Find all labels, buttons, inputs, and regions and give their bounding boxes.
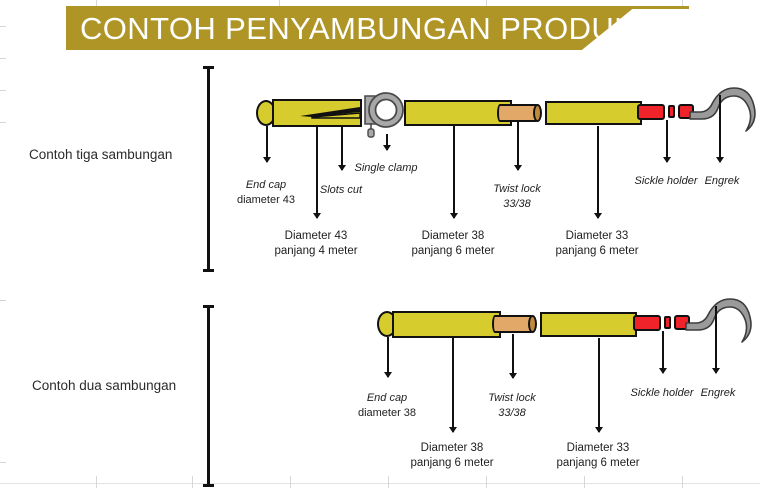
slide-canvas: CONTOH PENYAMBUNGAN PRODUK Contoh tiga s… xyxy=(0,0,760,496)
leader-sickle-holder-1 xyxy=(666,120,668,162)
ruler-tick xyxy=(0,462,6,463)
label-slots-cut: Slots cut xyxy=(320,183,362,198)
ruler-tick xyxy=(0,122,6,123)
leader-segment-38 xyxy=(453,126,455,218)
guide-horizontal xyxy=(0,483,760,484)
single-clamp-shape xyxy=(362,90,406,138)
sickle-holder-main-row2 xyxy=(633,315,661,331)
label-twist-lock-2: Twist lock33/38 xyxy=(488,391,535,420)
sickle-holder-pin xyxy=(668,105,675,118)
label-end-cap-43: End capdiameter 43 xyxy=(237,178,295,207)
guide-vertical xyxy=(584,476,585,488)
ruler-tick xyxy=(0,90,6,91)
sickle-holder-pin-row2 xyxy=(664,316,671,329)
leader-end-cap-43 xyxy=(266,126,268,162)
tube-38-row2 xyxy=(392,311,501,338)
label-engrek-1: Engrek xyxy=(705,174,740,189)
ruler-tick xyxy=(0,26,6,27)
label-end-cap-38: End capdiameter 38 xyxy=(358,391,416,420)
row-bracket-tiga xyxy=(207,66,210,272)
twist-lock-end-38-row2 xyxy=(528,315,537,333)
leader-segment-43 xyxy=(316,126,318,218)
page-title: CONTOH PENYAMBUNGAN PRODUK xyxy=(66,13,635,44)
label-sickle-holder-2: Sickle holder xyxy=(631,386,694,401)
twist-lock-end-38 xyxy=(533,104,542,122)
tube-33 xyxy=(545,101,642,125)
guide-vertical xyxy=(192,476,193,488)
label-twist-lock-1: Twist lock33/38 xyxy=(493,182,540,211)
guide-vertical xyxy=(388,476,389,488)
title-banner: CONTOH PENYAMBUNGAN PRODUK xyxy=(66,6,636,50)
label-segment-33-row2: Diameter 33panjang 6 meter xyxy=(556,441,639,471)
leader-slots-cut xyxy=(341,126,343,170)
label-engrek-2: Engrek xyxy=(701,386,736,401)
label-segment-38-row2: Diameter 38panjang 6 meter xyxy=(410,441,493,471)
leader-single-clamp xyxy=(386,134,388,150)
ruler-tick xyxy=(0,300,6,301)
leader-twist-lock-1 xyxy=(517,122,519,170)
guide-vertical xyxy=(290,476,291,488)
guide-vertical xyxy=(486,476,487,488)
sickle-holder-main xyxy=(637,104,665,120)
engrek-shape-row2 xyxy=(684,297,756,345)
leader-engrek-1 xyxy=(719,95,721,162)
label-segment-38: Diameter 38panjang 6 meter xyxy=(411,229,494,259)
ruler-tick xyxy=(0,58,6,59)
guide-vertical xyxy=(96,476,97,488)
leader-segment-33 xyxy=(597,126,599,218)
leader-segment-33-row2 xyxy=(598,338,600,432)
row-label-tiga: Contoh tiga sambungan xyxy=(29,147,172,162)
leader-engrek-2 xyxy=(715,306,717,373)
slots-cut-shape xyxy=(300,104,362,122)
tube-33-row2 xyxy=(540,312,637,337)
leader-sickle-holder-2 xyxy=(662,331,664,373)
leader-twist-lock-2 xyxy=(512,334,514,378)
title-accent-rule xyxy=(609,6,689,9)
guide-vertical xyxy=(682,476,683,488)
label-segment-33: Diameter 33panjang 6 meter xyxy=(555,229,638,259)
label-segment-43: Diameter 43panjang 4 meter xyxy=(274,229,357,259)
tube-38 xyxy=(404,100,512,126)
row-bracket-dua xyxy=(207,305,210,487)
leader-segment-38-row2 xyxy=(452,338,454,432)
leader-end-cap-38 xyxy=(387,337,389,377)
label-sickle-holder-1: Sickle holder xyxy=(635,174,698,189)
engrek-shape xyxy=(688,86,760,134)
label-single-clamp: Single clamp xyxy=(355,161,418,176)
row-label-dua: Contoh dua sambungan xyxy=(32,378,176,393)
